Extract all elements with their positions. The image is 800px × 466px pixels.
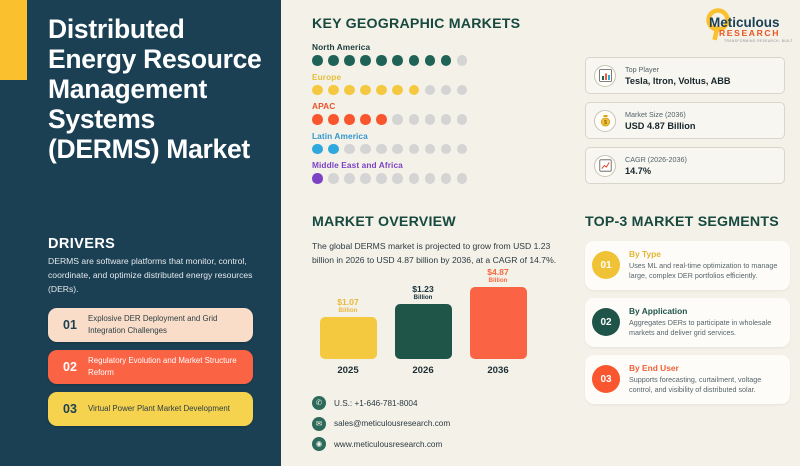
bar-year-2036: 2036	[487, 365, 508, 376]
contact-row-phone[interactable]: ✆ U.S.: +1-646-781-8004	[312, 396, 450, 410]
geo-label-north-america: North America	[312, 42, 582, 52]
title-block: Distributed Energy Resource Management S…	[48, 14, 273, 164]
market-segments-section: TOP-3 MARKET SEGMENTS 01 By Type Uses ML…	[585, 214, 790, 412]
growth-chart-icon	[594, 155, 616, 177]
driver-number-2: 02	[52, 360, 88, 374]
geo-dots-latin-america	[312, 144, 582, 155]
segment-card-by-end-user[interactable]: 03 By End User Supports forecasting, cur…	[585, 355, 790, 404]
bar-group-2025: $1.07 Billion 2025	[318, 298, 378, 376]
right-area: Meticulous RESEARCH TRANSFORMING RESEARC…	[281, 0, 800, 466]
svg-text:RESEARCH: RESEARCH	[719, 28, 780, 38]
contact-details: ✆ U.S.: +1-646-781-8004 ✉ sales@meticulo…	[312, 396, 450, 458]
contact-email: sales@meticulousresearch.com	[334, 419, 450, 428]
segment-title-1: By Type	[629, 249, 780, 259]
segment-desc-1: Uses ML and real-time optimization to ma…	[629, 261, 780, 282]
segment-number-3: 03	[592, 365, 620, 393]
geo-label-latin-america: Latin America	[312, 131, 582, 141]
driver-list: 01 Explosive DER Deployment and Grid Int…	[48, 308, 253, 426]
contact-row-website[interactable]: ◉ www.meticulousresearch.com	[312, 437, 450, 451]
bar-2025	[320, 317, 377, 359]
geo-section-title: KEY GEOGRAPHIC MARKETS	[312, 16, 582, 32]
bar-value-2036: $4.87	[487, 268, 509, 277]
market-size-bar-chart: $1.07 Billion 2025 $1.23 Billion 2026 $4…	[312, 278, 542, 376]
driver-text-1: Explosive DER Deployment and Grid Integr…	[88, 313, 245, 336]
contact-phone: U.S.: +1-646-781-8004	[334, 399, 418, 408]
segment-number-1: 01	[592, 251, 620, 279]
stat-card-top-player[interactable]: Top Player Tesla, Itron, Voltus, ABB	[585, 57, 785, 94]
driver-number-3: 03	[52, 402, 88, 416]
bar-unit-2036: Billion	[489, 277, 508, 284]
stat-label-cagr: CAGR (2026-2036)	[625, 155, 687, 164]
stat-value-market-size: USD 4.87 Billion	[625, 121, 695, 131]
geo-row-apac: APAC	[312, 101, 582, 125]
bar-value-2026: $1.23	[412, 285, 434, 294]
segment-list: 01 By Type Uses ML and real-time optimiz…	[585, 241, 790, 404]
driver-card-2[interactable]: 02 Regulatory Evolution and Market Struc…	[48, 350, 253, 384]
drivers-description: DERMS are software platforms that monito…	[48, 255, 253, 297]
segment-card-by-type[interactable]: 01 By Type Uses ML and real-time optimiz…	[585, 241, 790, 290]
contact-website: www.meticulousresearch.com	[334, 440, 442, 449]
stat-label-top-player: Top Player	[625, 65, 731, 74]
bar-chart-icon	[594, 65, 616, 87]
drivers-heading: DRIVERS	[48, 236, 253, 252]
geo-dots-europe	[312, 85, 582, 96]
geo-row-latin-america: Latin America	[312, 131, 582, 155]
geo-dots-apac	[312, 114, 582, 125]
geo-rows: North America Europe	[312, 42, 582, 184]
svg-text:TRANSFORMING RESEARCH, BUILT 2: TRANSFORMING RESEARCH, BUILT 2015	[724, 39, 792, 43]
bar-year-2026: 2026	[412, 365, 433, 376]
stat-label-market-size: Market Size (2036)	[625, 110, 695, 119]
drivers-section: DRIVERS DERMS are software platforms tha…	[48, 236, 253, 434]
segment-card-by-application[interactable]: 02 By Application Aggregates DERs to par…	[585, 298, 790, 347]
segment-desc-3: Supports forecasting, curtailment, volta…	[629, 375, 780, 396]
bar-year-2025: 2025	[337, 365, 358, 376]
stat-card-cagr[interactable]: CAGR (2026-2036) 14.7%	[585, 147, 785, 184]
meticulous-research-logo: Meticulous RESEARCH TRANSFORMING RESEARC…	[694, 8, 792, 46]
driver-card-1[interactable]: 01 Explosive DER Deployment and Grid Int…	[48, 308, 253, 342]
segment-desc-2: Aggregates DERs to participate in wholes…	[629, 318, 780, 339]
accent-bar	[0, 0, 27, 80]
geo-row-north-america: North America	[312, 42, 582, 66]
page-title: Distributed Energy Resource Management S…	[48, 14, 273, 164]
stat-value-top-player: Tesla, Itron, Voltus, ABB	[625, 76, 731, 86]
overview-section-title: MARKET OVERVIEW	[312, 214, 584, 230]
svg-text:$: $	[604, 120, 607, 126]
segment-title-2: By Application	[629, 306, 780, 316]
bar-value-2025: $1.07	[337, 298, 359, 307]
driver-text-3: Virtual Power Plant Market Development	[88, 403, 234, 414]
geo-label-middle-east-africa: Middle East and Africa	[312, 160, 582, 170]
bar-group-2036: $4.87 Billion 2036	[468, 268, 528, 376]
left-panel: Distributed Energy Resource Management S…	[0, 0, 281, 466]
globe-icon: ◉	[312, 437, 326, 451]
segment-title-3: By End User	[629, 363, 780, 373]
email-icon: ✉	[312, 417, 326, 431]
bar-2036	[470, 287, 527, 359]
geo-dots-north-america	[312, 55, 582, 66]
segment-number-2: 02	[592, 308, 620, 336]
bar-unit-2025: Billion	[339, 307, 358, 314]
driver-number-1: 01	[52, 318, 88, 332]
money-bag-icon: $	[594, 110, 616, 132]
phone-icon: ✆	[312, 396, 326, 410]
stat-cards: Top Player Tesla, Itron, Voltus, ABB $ M…	[585, 57, 785, 192]
logo-svg: Meticulous RESEARCH TRANSFORMING RESEARC…	[694, 8, 792, 46]
stat-value-cagr: 14.7%	[625, 166, 687, 176]
geo-row-middle-east-africa: Middle East and Africa	[312, 160, 582, 184]
stat-card-market-size[interactable]: $ Market Size (2036) USD 4.87 Billion	[585, 102, 785, 139]
geo-label-europe: Europe	[312, 72, 582, 82]
bar-group-2026: $1.23 Billion 2026	[393, 285, 453, 376]
geo-row-europe: Europe	[312, 72, 582, 96]
overview-description: The global DERMS market is projected to …	[312, 239, 560, 268]
infographic-page: Distributed Energy Resource Management S…	[0, 0, 800, 466]
contact-row-email[interactable]: ✉ sales@meticulousresearch.com	[312, 417, 450, 431]
geo-label-apac: APAC	[312, 101, 582, 111]
geo-dots-middle-east-africa	[312, 173, 582, 184]
market-overview-section: MARKET OVERVIEW The global DERMS market …	[312, 214, 584, 376]
bar-2026	[395, 304, 452, 359]
driver-card-3[interactable]: 03 Virtual Power Plant Market Developmen…	[48, 392, 253, 426]
segments-section-title: TOP-3 MARKET SEGMENTS	[585, 214, 790, 230]
bar-unit-2026: Billion	[414, 294, 433, 301]
driver-text-2: Regulatory Evolution and Market Structur…	[88, 355, 245, 378]
geographic-markets-section: KEY GEOGRAPHIC MARKETS North America Eur…	[312, 16, 582, 190]
